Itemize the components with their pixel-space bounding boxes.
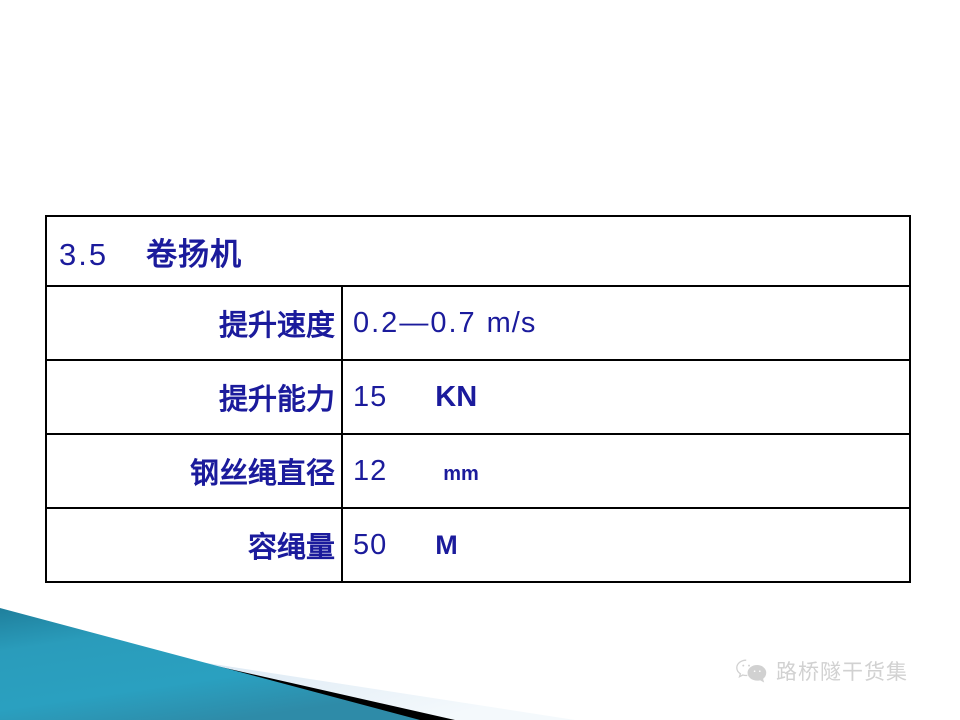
spec-label-cell-1: 提升能力 (46, 360, 342, 434)
spec-value: 0.2—0.7 (353, 307, 477, 340)
spec-value: 50 (353, 529, 387, 562)
table-title: 3.5 卷扬机 (59, 229, 909, 274)
watermark: 路桥隧干货集 (735, 656, 908, 686)
section-name: 卷扬机 (146, 229, 242, 274)
spec-value: 12 (353, 455, 387, 488)
spec-value-group: 15 KN (353, 381, 909, 414)
deco-black-stripe (0, 617, 455, 720)
table-row: 提升能力 15 KN (46, 360, 910, 434)
spec-label: 提升能力 (219, 382, 335, 416)
spec-value-group: 0.2—0.7 m/s (353, 307, 909, 340)
decorative-corner-graphic (0, 595, 620, 720)
table-title-cell: 3.5 卷扬机 (46, 216, 910, 286)
spec-label: 提升速度 (219, 308, 335, 342)
table-title-row: 3.5 卷扬机 (46, 216, 910, 286)
spec-unit: mm (443, 463, 479, 486)
spec-label: 钢丝绳直径 (190, 456, 335, 490)
spec-value-group: 12 mm (353, 455, 909, 488)
table-row: 容绳量 50 M (46, 508, 910, 582)
spec-label: 容绳量 (248, 530, 335, 564)
spec-value-cell-1: 15 KN (342, 360, 910, 434)
spec-label-cell-2: 钢丝绳直径 (46, 434, 342, 508)
spec-label-cell-0: 提升速度 (46, 286, 342, 360)
spec-label-cell-3: 容绳量 (46, 508, 342, 582)
table-row: 提升速度 0.2—0.7 m/s (46, 286, 910, 360)
spec-unit: M (435, 530, 458, 561)
watermark-text: 路桥隧干货集 (776, 656, 908, 686)
spec-value-cell-3: 50 M (342, 508, 910, 582)
spec-unit: KN (435, 381, 477, 414)
spec-value-cell-2: 12 mm (342, 434, 910, 508)
deco-pale-band (0, 631, 575, 720)
slide-canvas: 3.5 卷扬机 提升速度 0.2—0.7 m/s 提升 (0, 0, 960, 720)
spec-value-group: 50 M (353, 529, 909, 562)
table-row: 钢丝绳直径 12 mm (46, 434, 910, 508)
wechat-icon (735, 658, 769, 684)
deco-teal-triangle (0, 608, 420, 720)
winch-spec-table: 3.5 卷扬机 提升速度 0.2—0.7 m/s 提升 (45, 215, 911, 583)
spec-value-cell-0: 0.2—0.7 m/s (342, 286, 910, 360)
spec-value: 15 (353, 381, 387, 414)
spec-unit: m/s (487, 307, 537, 340)
section-number: 3.5 (59, 237, 108, 273)
